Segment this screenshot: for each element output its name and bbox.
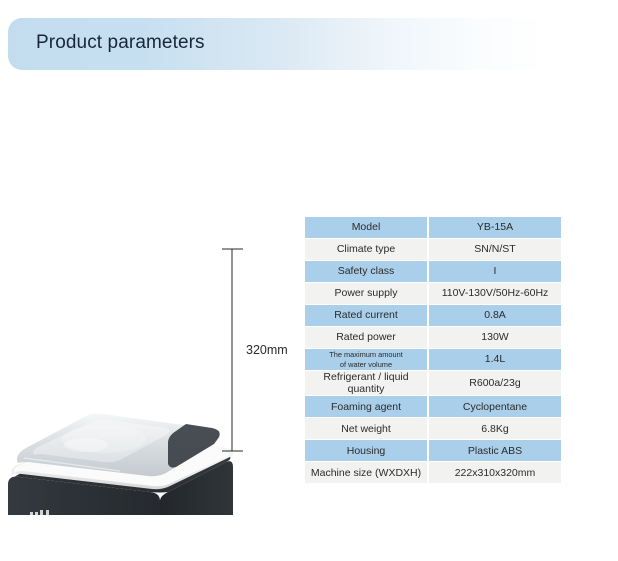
dimension-height-label: 320mm bbox=[246, 343, 288, 357]
table-row: ModelYB-15A bbox=[305, 217, 561, 238]
product-illustration: 320mm 310mm 222mm bbox=[0, 205, 300, 515]
table-row: Rated power130W bbox=[305, 327, 561, 348]
spec-key: Net weight bbox=[305, 418, 427, 439]
spec-key: The maximum amount of water volume bbox=[305, 349, 427, 370]
spec-key: Climate type bbox=[305, 239, 427, 260]
spec-value: YB-15A bbox=[427, 217, 561, 238]
spec-key: Housing bbox=[305, 440, 427, 461]
table-row: Net weight6.8Kg bbox=[305, 418, 561, 439]
table-row: Safety classI bbox=[305, 261, 561, 282]
spec-value: Cyclopentane bbox=[427, 396, 561, 417]
table-row: Climate typeSN/N/ST bbox=[305, 239, 561, 260]
table-row: Rated current0.8A bbox=[305, 305, 561, 326]
spec-value: 1.4L bbox=[427, 349, 561, 370]
spec-key-line1: The maximum amount bbox=[329, 350, 403, 359]
spec-value: 6.8Kg bbox=[427, 418, 561, 439]
spec-value: I bbox=[427, 261, 561, 282]
spec-key: Refrigerant / liquid quantity bbox=[305, 371, 427, 395]
spec-value: Plastic ABS bbox=[427, 440, 561, 461]
spec-value: 222x310x320mm bbox=[427, 462, 561, 483]
table-row: Refrigerant / liquid quantityR600a/23g bbox=[305, 371, 561, 395]
table-row: HousingPlastic ABS bbox=[305, 440, 561, 461]
spec-key: Rated current bbox=[305, 305, 427, 326]
spec-key: Model bbox=[305, 217, 427, 238]
table-row: Machine size (WXDXH)222x310x320mm bbox=[305, 462, 561, 483]
page-title: Product parameters bbox=[36, 32, 205, 54]
specification-table: ModelYB-15A Climate typeSN/N/ST Safety c… bbox=[305, 216, 561, 484]
spec-value: 0.8A bbox=[427, 305, 561, 326]
spec-key: Power supply bbox=[305, 283, 427, 304]
spec-key-line2: of water volume bbox=[340, 360, 392, 369]
spec-key: Rated power bbox=[305, 327, 427, 348]
specification-table-body: ModelYB-15A Climate typeSN/N/ST Safety c… bbox=[305, 217, 561, 483]
spec-value: 110V-130V/50Hz-60Hz bbox=[427, 283, 561, 304]
table-row: Power supply110V-130V/50Hz-60Hz bbox=[305, 283, 561, 304]
spec-key: Foaming agent bbox=[305, 396, 427, 417]
spec-value: R600a/23g bbox=[427, 371, 561, 395]
spec-value: 130W bbox=[427, 327, 561, 348]
table-row: The maximum amount of water volume 1.4L bbox=[305, 349, 561, 370]
dimension-height bbox=[222, 249, 243, 451]
spec-value: SN/N/ST bbox=[427, 239, 561, 260]
spec-key: Safety class bbox=[305, 261, 427, 282]
spec-key: Machine size (WXDXH) bbox=[305, 462, 427, 483]
table-row: Foaming agentCyclopentane bbox=[305, 396, 561, 417]
